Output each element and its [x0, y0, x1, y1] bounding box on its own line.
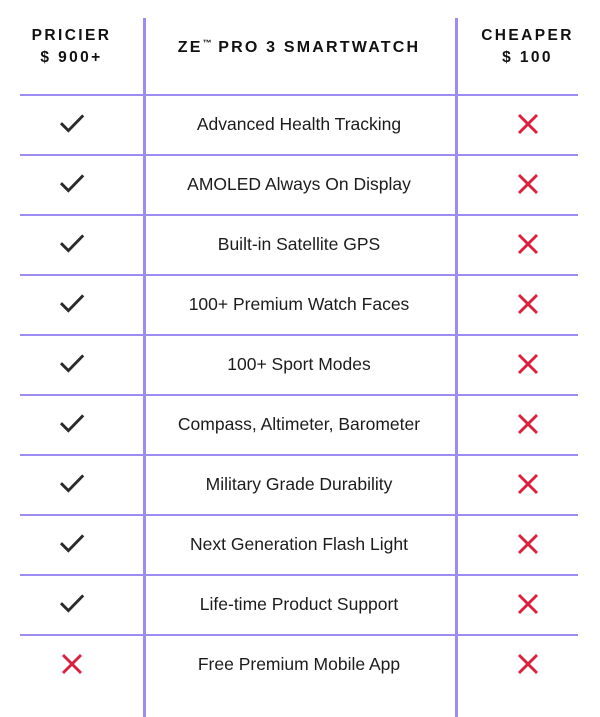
product-model: PRO 3 SMARTWATCH — [212, 39, 421, 56]
cell-right — [455, 574, 600, 634]
table-row: 100+ Premium Watch Faces — [0, 274, 600, 334]
cell-feature: Free Premium Mobile App — [143, 634, 455, 694]
table-row: Built-in Satellite GPS — [0, 214, 600, 274]
table-row: Free Premium Mobile App — [0, 634, 600, 694]
cell-right — [455, 514, 600, 574]
header-cheaper-label: CHEAPER — [481, 25, 574, 47]
table-row: AMOLED Always On Display — [0, 154, 600, 214]
feature-label: Compass, Altimeter, Barometer — [178, 414, 420, 435]
check-icon — [57, 529, 87, 559]
check-icon — [57, 349, 87, 379]
check-icon — [57, 229, 87, 259]
check-icon — [57, 169, 87, 199]
cell-right — [455, 454, 600, 514]
cross-icon — [515, 651, 541, 677]
cell-feature: 100+ Premium Watch Faces — [143, 274, 455, 334]
cell-right — [455, 154, 600, 214]
cross-icon — [515, 531, 541, 557]
table-row: Advanced Health Tracking — [0, 94, 600, 154]
table-header-row: PRICIER $ 900+ ZE™ PRO 3 SMARTWATCH CHEA… — [0, 0, 600, 94]
header-pricier-price: $ 900+ — [32, 47, 112, 69]
cell-right — [455, 334, 600, 394]
cell-right — [455, 94, 600, 154]
cell-left — [0, 394, 143, 454]
cell-feature: 100+ Sport Modes — [143, 334, 455, 394]
feature-label: Life-time Product Support — [200, 594, 398, 615]
table-row: Compass, Altimeter, Barometer — [0, 394, 600, 454]
feature-label: Advanced Health Tracking — [197, 114, 401, 135]
cell-feature: Next Generation Flash Light — [143, 514, 455, 574]
cross-icon — [515, 411, 541, 437]
cross-icon — [515, 111, 541, 137]
cell-left — [0, 634, 143, 694]
cell-left — [0, 574, 143, 634]
feature-label: Free Premium Mobile App — [198, 654, 400, 675]
cell-right — [455, 274, 600, 334]
product-brand: ZE — [178, 39, 203, 56]
check-icon — [57, 409, 87, 439]
header-cell-cheaper: CHEAPER $ 100 — [455, 0, 600, 94]
table-row: Life-time Product Support — [0, 574, 600, 634]
cell-right — [455, 634, 600, 694]
cell-feature: Life-time Product Support — [143, 574, 455, 634]
cross-icon — [515, 231, 541, 257]
cross-icon — [515, 171, 541, 197]
cell-left — [0, 154, 143, 214]
cross-icon — [59, 651, 85, 677]
header-cell-pricier: PRICIER $ 900+ — [0, 0, 143, 94]
feature-label: Built-in Satellite GPS — [218, 234, 380, 255]
feature-label: Military Grade Durability — [206, 474, 393, 495]
cell-feature: Advanced Health Tracking — [143, 94, 455, 154]
feature-label: 100+ Premium Watch Faces — [189, 294, 410, 315]
comparison-table: PRICIER $ 900+ ZE™ PRO 3 SMARTWATCH CHEA… — [0, 0, 600, 717]
table-row: Next Generation Flash Light — [0, 514, 600, 574]
feature-label: AMOLED Always On Display — [187, 174, 411, 195]
cross-icon — [515, 591, 541, 617]
cross-icon — [515, 471, 541, 497]
cell-feature: Built-in Satellite GPS — [143, 214, 455, 274]
cell-left — [0, 454, 143, 514]
cell-left — [0, 94, 143, 154]
cell-right — [455, 394, 600, 454]
header-cheaper-price: $ 100 — [481, 47, 574, 69]
check-icon — [57, 469, 87, 499]
table-row: Military Grade Durability — [0, 454, 600, 514]
cell-left — [0, 334, 143, 394]
cross-icon — [515, 291, 541, 317]
cell-feature: Military Grade Durability — [143, 454, 455, 514]
cell-right — [455, 214, 600, 274]
product-title: ZE™ PRO 3 SMARTWATCH — [178, 38, 421, 57]
check-icon — [57, 289, 87, 319]
header-pricier-label: PRICIER — [32, 25, 112, 47]
table-row: 100+ Sport Modes — [0, 334, 600, 394]
trademark-icon: ™ — [203, 38, 212, 48]
cell-feature: AMOLED Always On Display — [143, 154, 455, 214]
cell-left — [0, 214, 143, 274]
header-cell-product: ZE™ PRO 3 SMARTWATCH — [143, 0, 455, 94]
feature-label: Next Generation Flash Light — [190, 534, 408, 555]
feature-label: 100+ Sport Modes — [227, 354, 371, 375]
cell-left — [0, 514, 143, 574]
cell-feature: Compass, Altimeter, Barometer — [143, 394, 455, 454]
check-icon — [57, 109, 87, 139]
cross-icon — [515, 351, 541, 377]
check-icon — [57, 589, 87, 619]
cell-left — [0, 274, 143, 334]
